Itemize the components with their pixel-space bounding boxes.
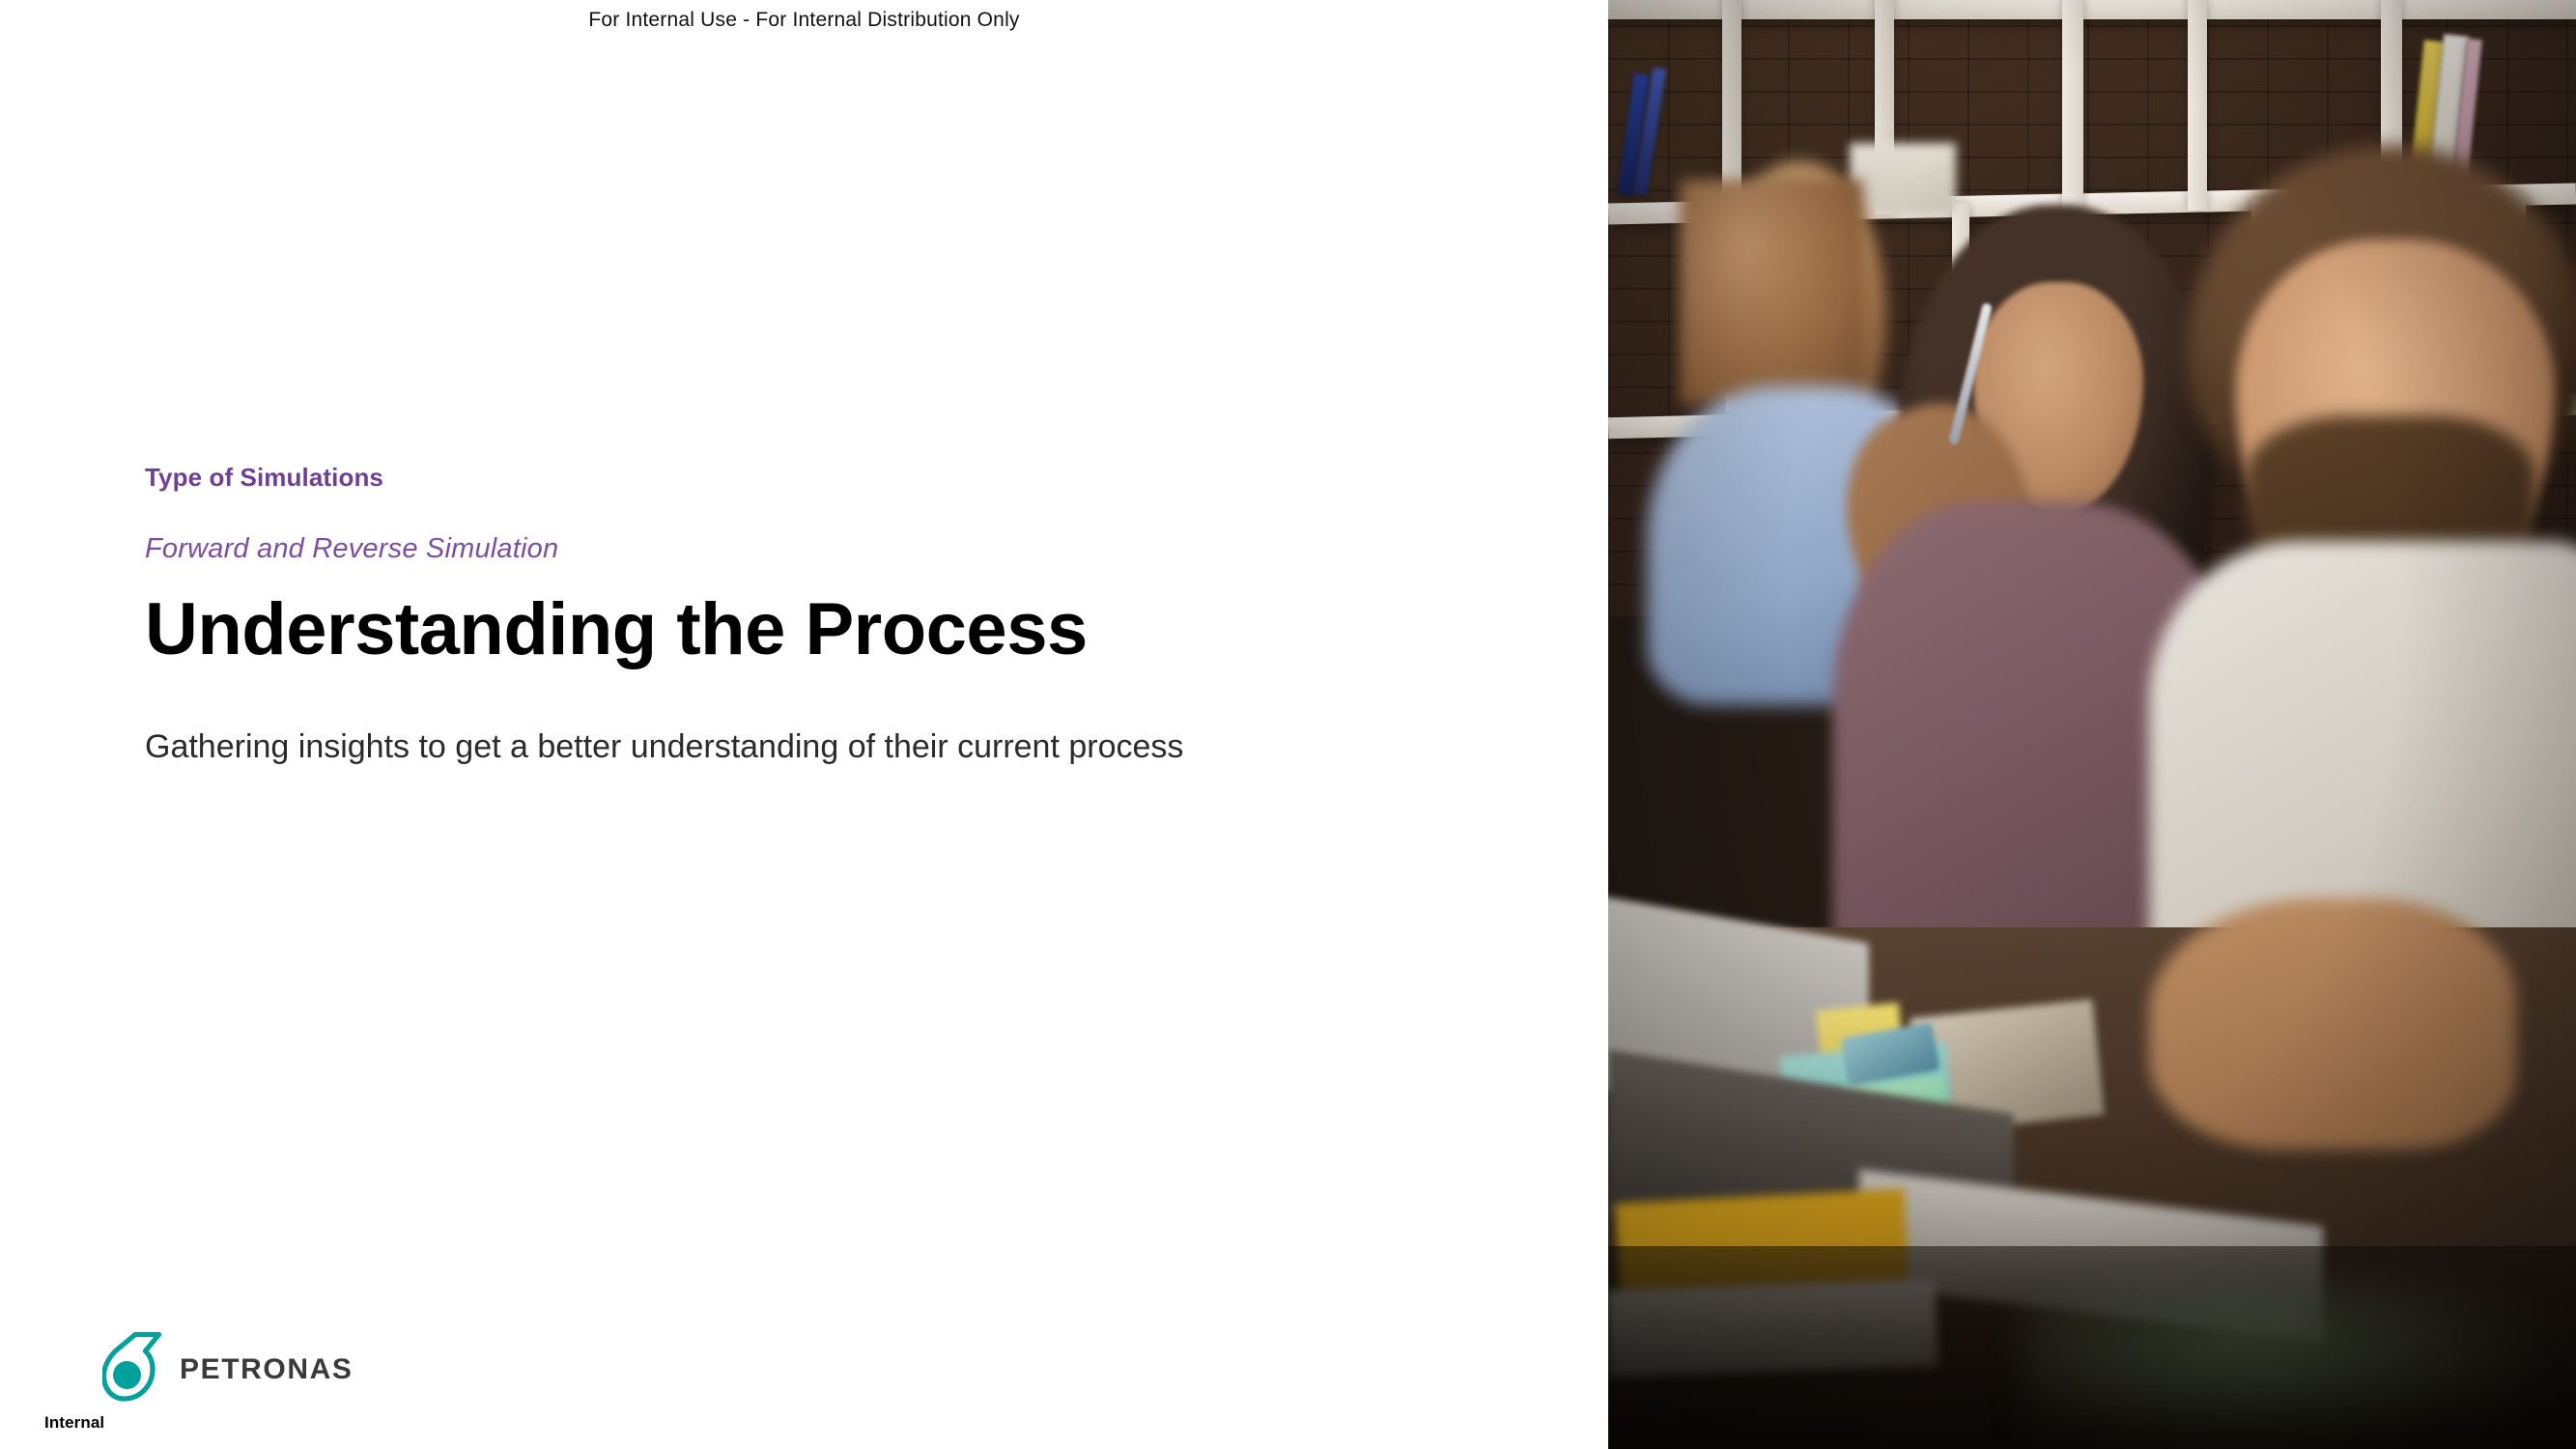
footer-classification-label: Internal <box>44 1413 104 1433</box>
petronas-wordmark: PETRONAS <box>180 1350 354 1384</box>
petronas-logo-lockup: PETRONAS <box>102 1331 354 1403</box>
kicker-label: Forward and Reverse Simulation <box>145 534 1497 565</box>
page-title: Understanding the Process <box>145 591 1497 668</box>
hero-photo <box>1608 0 2576 1449</box>
eyebrow-label: Type of Simulations <box>145 464 1497 492</box>
classification-header: For Internal Use - For Internal Distribu… <box>0 9 1608 32</box>
subtitle-text: Gathering insights to get a better under… <box>145 726 1497 768</box>
slide-canvas: For Internal Use - For Internal Distribu… <box>0 0 2576 1449</box>
title-text-block: Type of Simulations Forward and Reverse … <box>145 464 1497 768</box>
photo-vignette <box>1608 0 2576 1449</box>
petronas-droplet-icon <box>102 1331 164 1403</box>
